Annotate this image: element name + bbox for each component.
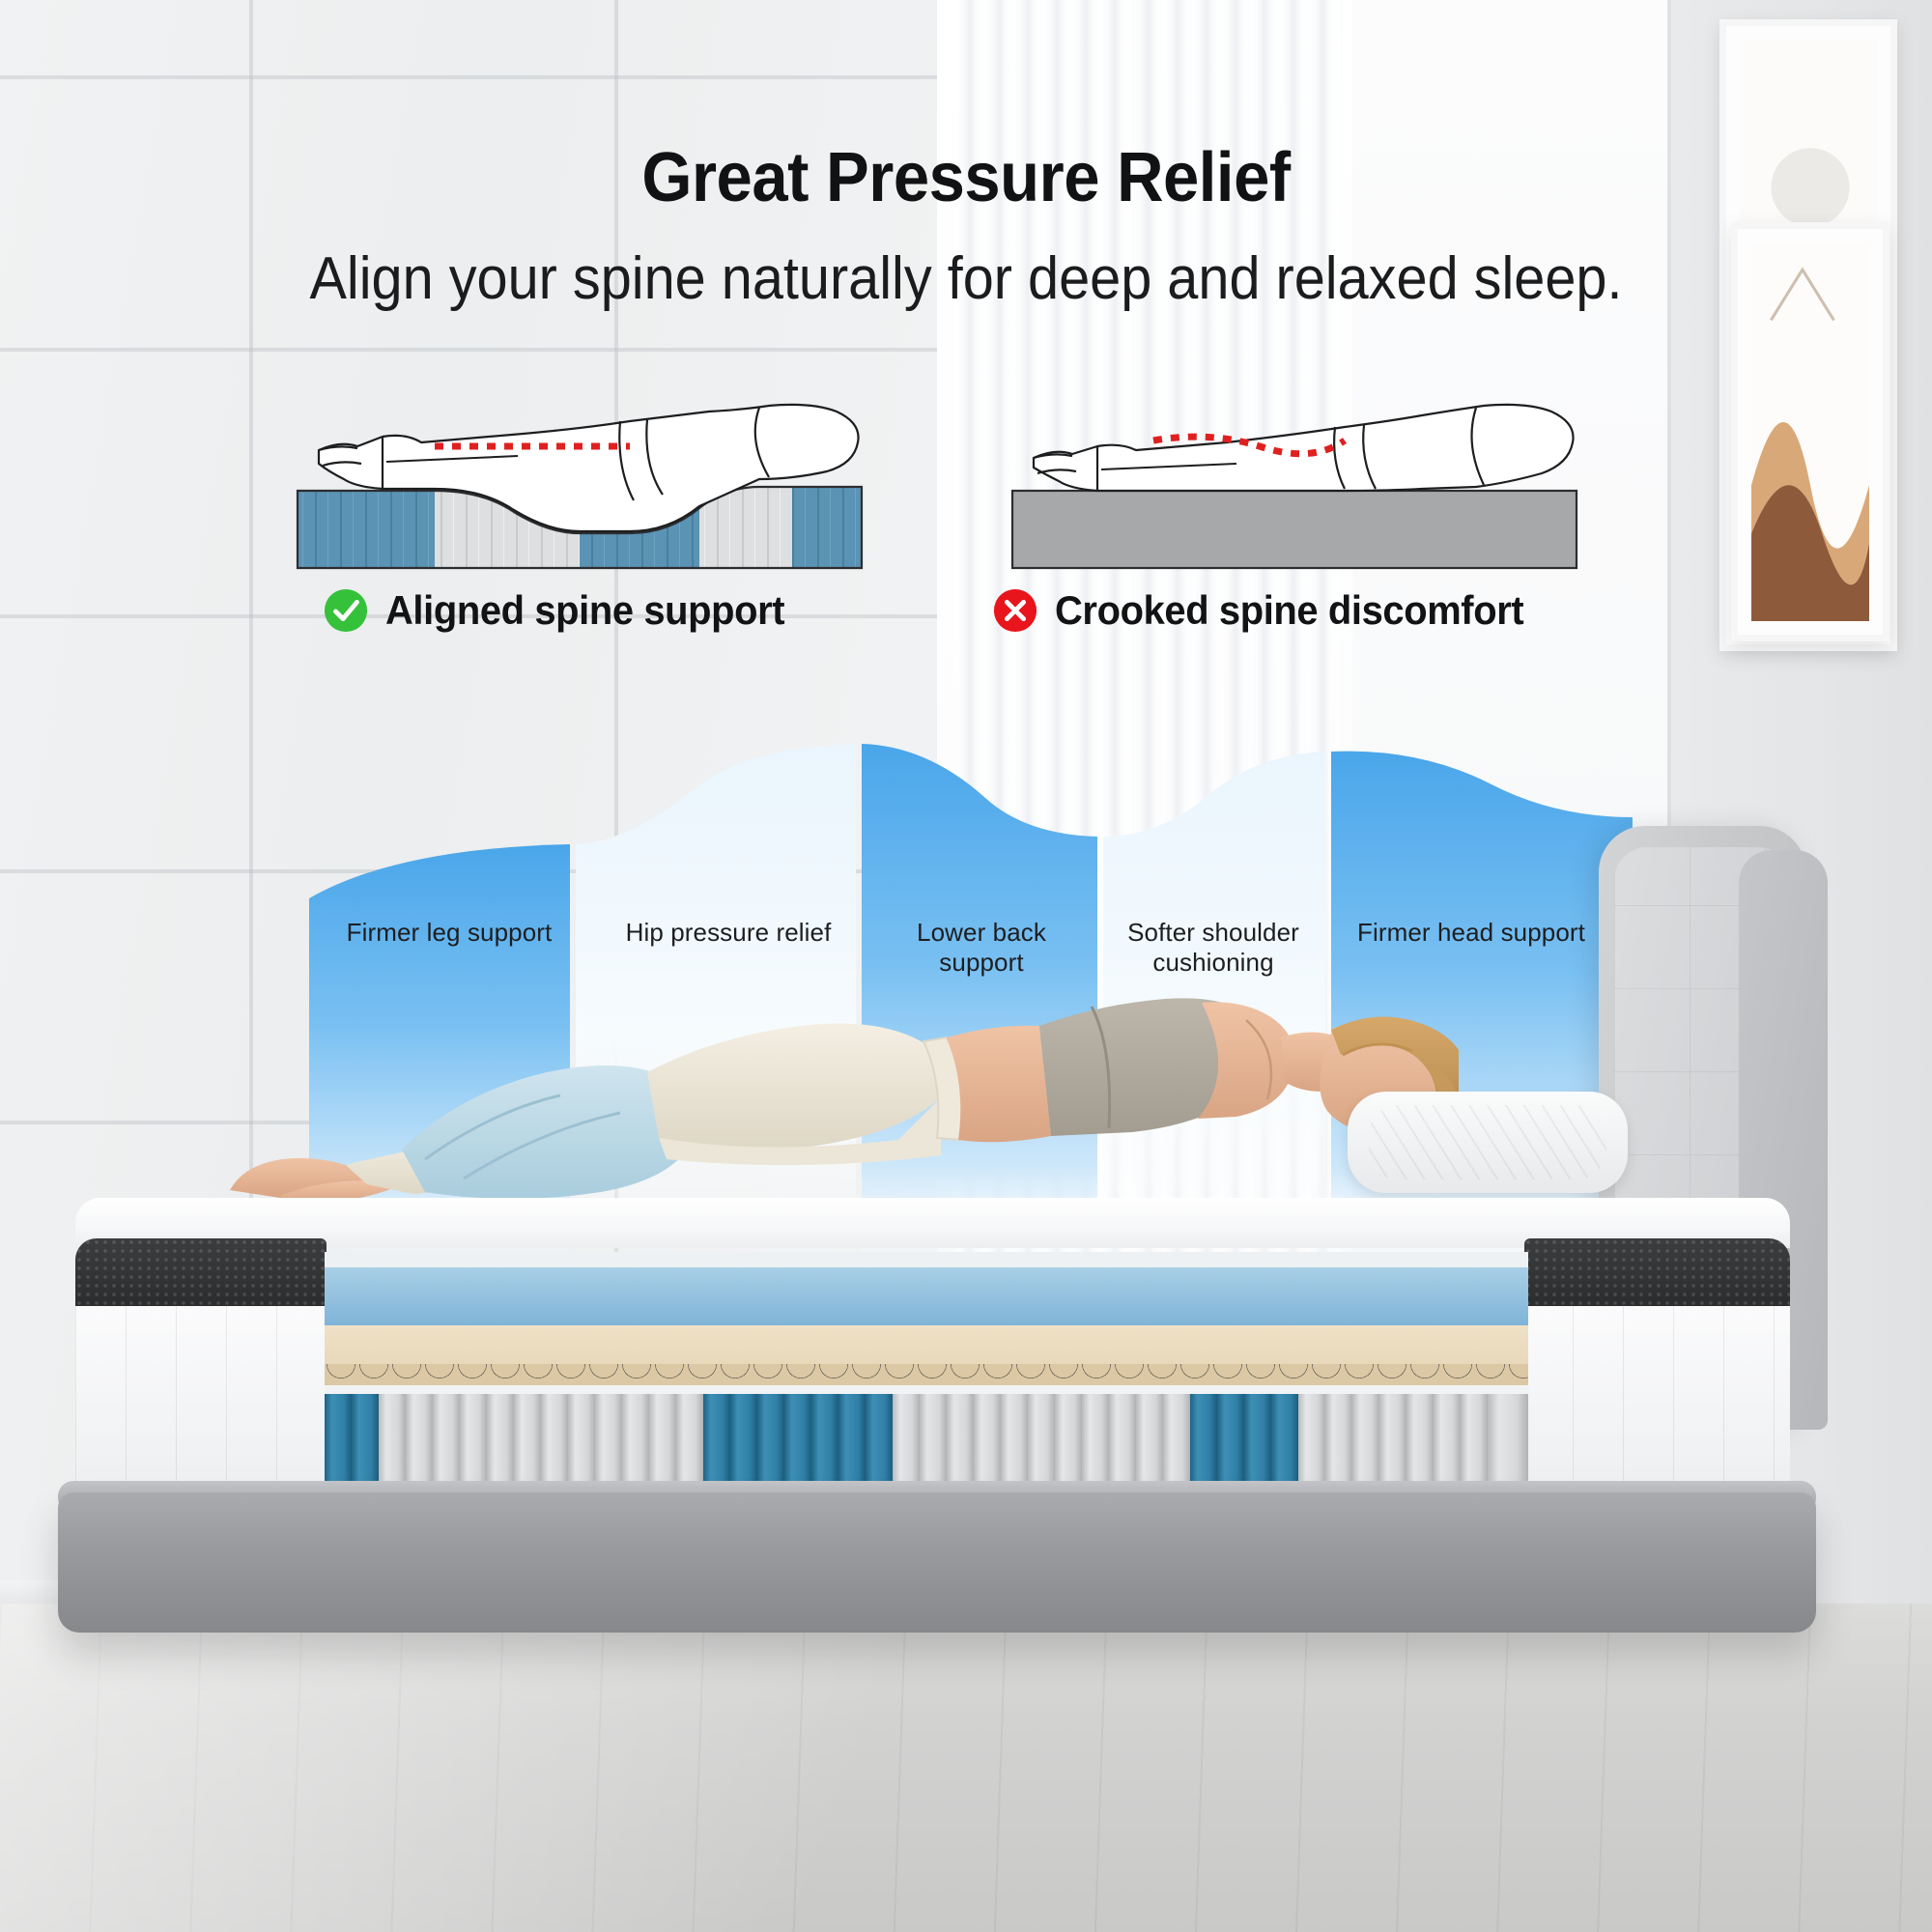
mattress-side-quilting-left: [75, 1306, 328, 1509]
layer-separator: [325, 1385, 1528, 1394]
x-circle-icon: [993, 588, 1037, 633]
mattress-cross-section: [75, 1198, 1790, 1507]
comparison-label-text: Crooked spine discomfort: [1055, 587, 1523, 634]
sleeper-figure: [222, 966, 1459, 1217]
wall-seam: [0, 75, 976, 79]
diagram-aligned-spine: [290, 386, 869, 580]
page-subtitle: Align your spine naturally for deep and …: [68, 249, 1864, 309]
layer-cooling-gel-foam: [325, 1267, 1528, 1325]
mattress-mesh-band-right: [1524, 1238, 1790, 1312]
comparison-label-text: Aligned spine support: [385, 587, 784, 634]
zone-label-leg: Firmer leg support: [328, 918, 570, 948]
mattress-mesh-band-left: [75, 1238, 327, 1312]
zone-label-head: Firmer head support: [1331, 918, 1611, 948]
zone-label-hip: Hip pressure relief: [599, 918, 858, 948]
floor-highlight: [0, 1604, 1932, 1932]
comparison-label-crooked: Crooked spine discomfort: [993, 587, 1548, 634]
diagram-crooked-spine: [1005, 386, 1584, 580]
check-circle-icon: [324, 588, 368, 633]
mattress-cutaway: [325, 1244, 1528, 1509]
bed-frame-base: [58, 1492, 1816, 1633]
product-infographic: Great Pressure Relief Align your spine n…: [0, 0, 1932, 1932]
layer-egg-crate-profile: [325, 1364, 1528, 1385]
comparison-label-aligned: Aligned spine support: [324, 587, 806, 634]
mattress-side-quilting-right: [1522, 1306, 1790, 1509]
contour-pillow: [1348, 1092, 1628, 1193]
page-title: Great Pressure Relief: [68, 143, 1864, 213]
wall-seam: [0, 348, 976, 352]
